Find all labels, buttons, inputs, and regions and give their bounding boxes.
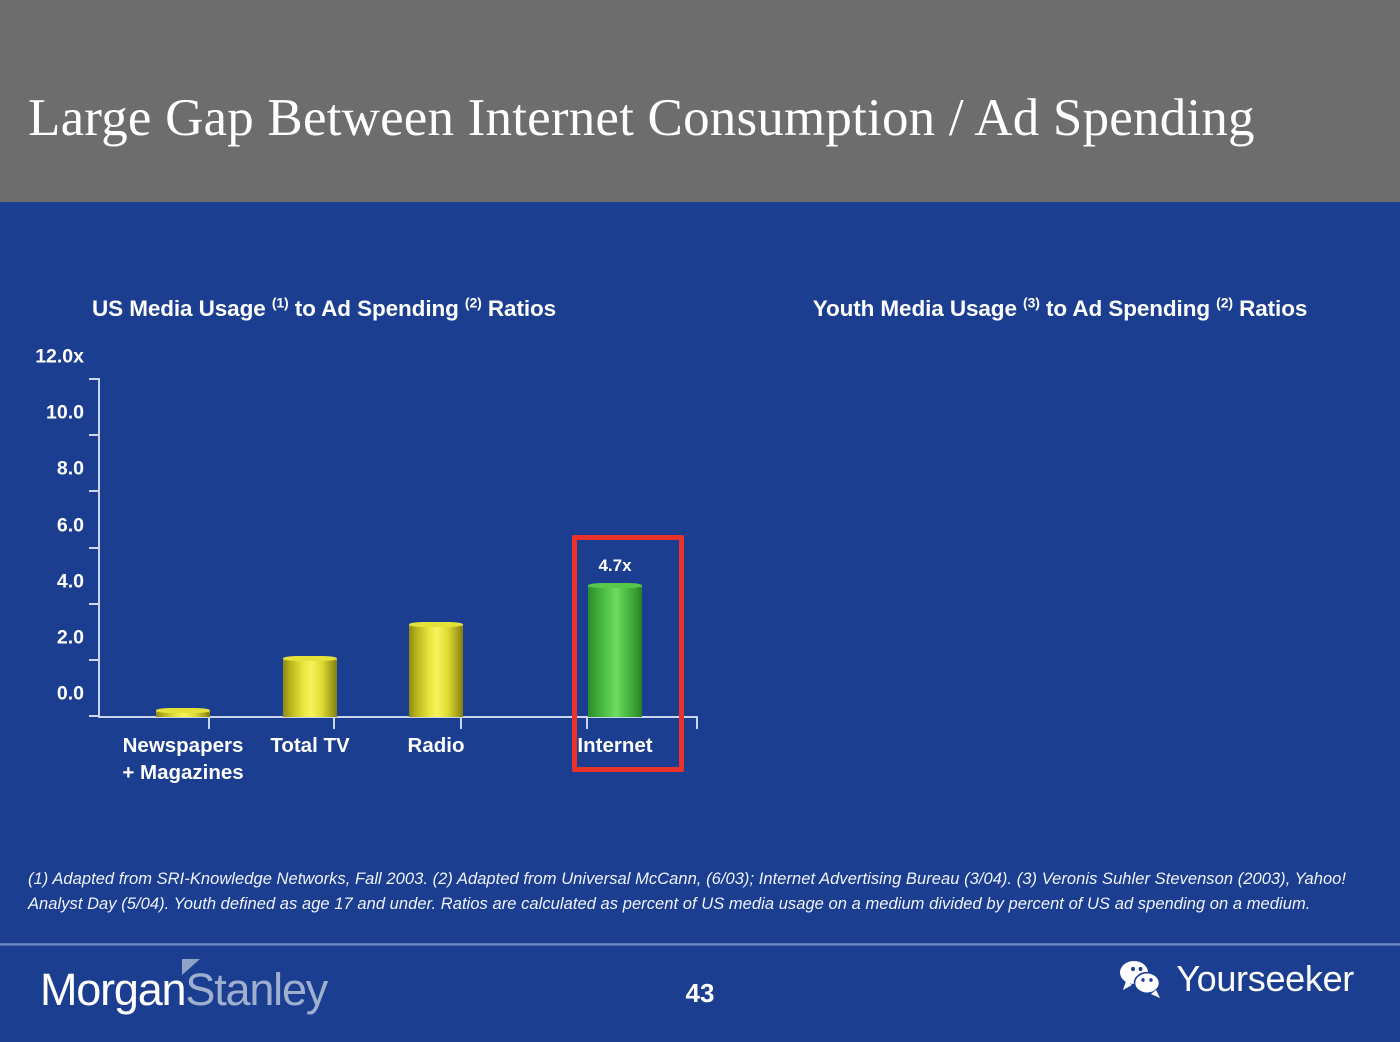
y-axis-tick xyxy=(89,659,100,661)
footnote-ref-2: (2) xyxy=(1216,295,1233,311)
bar-internet[interactable] xyxy=(588,585,642,717)
chart-title-segment: Ratios xyxy=(482,296,556,321)
footnote-ref-3: (3) xyxy=(1023,295,1040,311)
chart-title-segment: Youth Media Usage xyxy=(813,296,1023,321)
chart-title-segment: to Ad Spending xyxy=(289,296,465,321)
bar-top-cap xyxy=(156,708,210,713)
y-axis-line xyxy=(98,380,100,717)
chart-panel-us-media-usage: US Media Usage (1) to Ad Spending (2) Ra… xyxy=(0,202,710,822)
category-label-radio: Radio xyxy=(408,732,465,759)
footnote-text: (1) Adapted from SRI-Knowledge Networks,… xyxy=(28,867,1373,917)
y-axis-label-2: 2.0 xyxy=(57,626,84,649)
footnote-ref-1: (1) xyxy=(272,295,289,311)
chart-title-youth-media-usage: Youth Media Usage (3) to Ad Spending (2)… xyxy=(755,292,1365,327)
wechat-icon xyxy=(1118,959,1164,999)
y-axis-tick xyxy=(89,490,100,492)
y-axis-tick xyxy=(89,547,100,549)
chart-panel-youth-media-usage: Youth Media Usage (3) to Ad Spending (2)… xyxy=(710,202,1400,822)
bar-value-internet: 4.7x xyxy=(598,556,631,576)
y-axis-label-8: 8.0 xyxy=(57,458,84,481)
x-axis-separator xyxy=(696,717,698,729)
chart-title-segment: to Ad Spending xyxy=(1040,296,1216,321)
x-axis-separator xyxy=(460,717,462,729)
plot-area-us-media-usage: 12.0x 10.0 8.0 6.0 4.0 2.0 0.0 xyxy=(98,380,698,717)
slide-footer: MorganStanley 43 Yourseeker xyxy=(0,946,1400,1042)
y-axis-tick xyxy=(89,603,100,605)
bar-radio[interactable] xyxy=(409,624,463,717)
category-label-line: + Magazines xyxy=(122,759,243,786)
brand-name: Yourseeker xyxy=(1176,958,1354,1000)
category-label-newspapers-magazines: Newspapers + Magazines xyxy=(122,732,243,786)
x-axis-separator xyxy=(333,717,335,729)
y-axis-label-0: 0.0 xyxy=(57,683,84,706)
page-title: Large Gap Between Internet Consumption /… xyxy=(28,92,1378,145)
chart-title-segment: US Media Usage xyxy=(92,296,272,321)
x-axis-separator xyxy=(208,717,210,729)
chart-title-us-media-usage: US Media Usage (1) to Ad Spending (2) Ra… xyxy=(92,292,692,327)
bar-total-tv[interactable] xyxy=(283,658,337,717)
bar-top-cap xyxy=(283,656,337,661)
bar-top-cap xyxy=(588,583,642,588)
y-axis-tick xyxy=(89,715,100,717)
x-axis-separator xyxy=(586,717,588,729)
y-axis-tick xyxy=(89,378,100,380)
y-axis-label-12: 12.0x xyxy=(35,346,84,369)
y-axis-label-10: 10.0 xyxy=(46,402,84,425)
slide-body: US Media Usage (1) to Ad Spending (2) Ra… xyxy=(0,202,1400,1042)
bar-newspapers-magazines[interactable] xyxy=(156,710,210,717)
category-label-internet: Internet xyxy=(577,732,652,759)
brand-watermark: Yourseeker xyxy=(1118,958,1354,1000)
y-axis-label-4: 4.0 xyxy=(57,570,84,593)
chart-title-segment: Ratios xyxy=(1233,296,1307,321)
bar-top-cap xyxy=(409,622,463,627)
y-axis-label-6: 6.0 xyxy=(57,514,84,537)
footnote-ref-2: (2) xyxy=(465,295,482,311)
y-axis-tick xyxy=(89,434,100,436)
category-label-line: Newspapers xyxy=(122,732,243,759)
category-label-total-tv: Total TV xyxy=(270,732,349,759)
